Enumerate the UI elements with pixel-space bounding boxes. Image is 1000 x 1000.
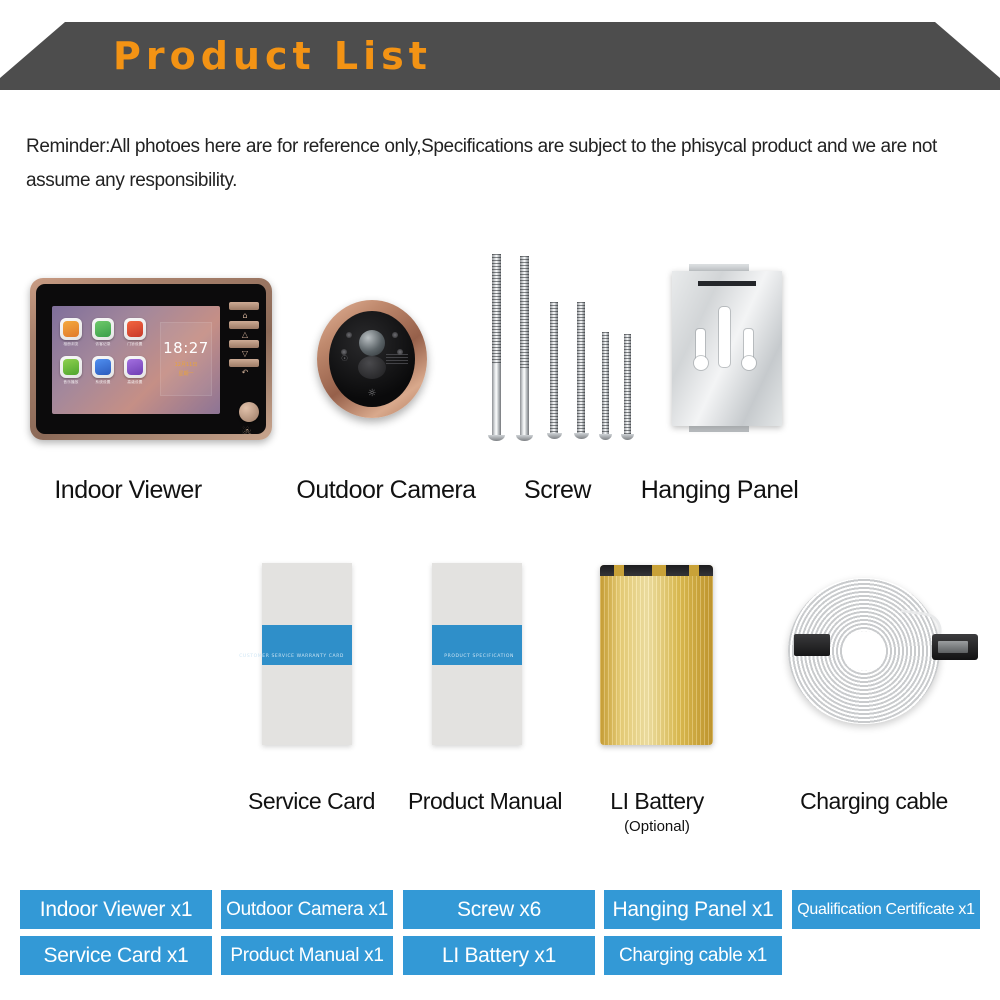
doorbell-button[interactable]: [358, 356, 386, 379]
panel-body: [672, 271, 782, 426]
power-knob[interactable]: [239, 402, 259, 422]
header-banner: Product List: [0, 0, 1000, 100]
ir-led-icon: [346, 332, 352, 338]
app-label: 门铃设置: [124, 342, 146, 347]
back-icon[interactable]: ↶: [228, 368, 262, 378]
badge-qualification-certificate[interactable]: Qualification Certificate x1: [792, 890, 980, 929]
app-tile: 访客记录: [92, 318, 114, 347]
caption-service-card: Service Card: [248, 788, 366, 815]
screw-item: [577, 302, 585, 442]
clock-panel: 18:27 12月11日 星期一: [160, 322, 212, 396]
caption-product-manual: Product Manual: [405, 788, 565, 815]
app-tile: 高级设置: [124, 356, 146, 385]
model-text-marking: [386, 354, 408, 364]
camera-bezel-ring: ☉ ☼: [317, 300, 427, 418]
page-title: Product List: [113, 32, 432, 80]
badge-hanging-panel[interactable]: Hanging Panel x1: [604, 890, 782, 929]
clock-date-line2: 星期一: [161, 370, 211, 378]
camera-lens-icon: [359, 330, 385, 356]
ir-led-icon: [392, 332, 398, 338]
screw-item: [550, 302, 558, 442]
service-card-band: CUSTOMER SERVICE WARRANTY CARD: [262, 625, 352, 665]
product-manual-body: PRODUCT SPECIFICATION: [432, 563, 522, 745]
product-image-outdoor-camera: ☉ ☼: [317, 300, 427, 418]
app-label: 高级设置: [124, 380, 146, 385]
indoor-viewer-bezel: 相册浏览 访客记录 门铃设置: [36, 284, 266, 434]
product-image-indoor-viewer: 相册浏览 访客记录 门铃设置: [30, 278, 272, 440]
app-label: 系统设置: [92, 380, 114, 385]
key-bar-1[interactable]: [229, 302, 259, 310]
caption-li-battery-optional: (Optional): [592, 818, 722, 835]
visitor-log-icon: [92, 318, 114, 340]
bell-icon: ☼: [364, 388, 380, 400]
caption-hanging-panel: Hanging Panel: [622, 476, 817, 505]
app-tile: 音乐播放: [60, 356, 82, 385]
badge-service-card[interactable]: Service Card x1: [20, 936, 212, 975]
caption-indoor-viewer: Indoor Viewer: [30, 476, 226, 505]
product-image-screws: [478, 252, 633, 442]
clock-date-line1: 12月11日: [161, 361, 211, 369]
caption-outdoor-camera: Outdoor Camera: [280, 476, 492, 505]
up-icon[interactable]: △: [228, 330, 262, 340]
app-tile: 门铃设置: [124, 318, 146, 347]
app-tile: 系统设置: [92, 356, 114, 385]
badge-outdoor-camera[interactable]: Outdoor Camera x1: [221, 890, 393, 929]
product-image-service-card: CUSTOMER SERVICE WARRANTY CARD: [262, 563, 352, 745]
clock-time: 18:27: [161, 339, 211, 357]
camera-face: ☉ ☼: [329, 311, 415, 407]
product-image-charging-cable: [772, 572, 982, 730]
system-settings-icon: [92, 356, 114, 378]
app-tile: 相册浏览: [60, 318, 82, 347]
product-image-li-battery: [600, 565, 713, 745]
badge-li-battery[interactable]: LI Battery x1: [403, 936, 595, 975]
caption-charging-cable: Charging cable: [778, 788, 970, 815]
usb-a-connector: [932, 634, 978, 660]
reminder-text: Reminder:All photoes here are for refere…: [26, 130, 971, 198]
product-image-product-manual: PRODUCT SPECIFICATION: [432, 563, 522, 745]
battery-notch: [652, 565, 666, 576]
product-manual-band-text: PRODUCT SPECIFICATION: [444, 654, 514, 659]
screw-item: [492, 254, 501, 442]
keyhole-slot: [744, 329, 753, 363]
down-icon[interactable]: ▽: [228, 349, 262, 359]
badge-indoor-viewer[interactable]: Indoor Viewer x1: [20, 890, 212, 929]
service-card-body: CUSTOMER SERVICE WARRANTY CARD: [262, 563, 352, 745]
key-bar-3[interactable]: [229, 340, 259, 348]
badge-screw[interactable]: Screw x6: [403, 890, 595, 929]
indoor-viewer-screen: 相册浏览 访客记录 门铃设置: [52, 306, 220, 414]
caption-screw: Screw: [500, 476, 615, 505]
indoor-viewer-keypad: ⌂ △ ▽ ↶ ☃: [228, 302, 262, 420]
micro-usb-connector: [794, 634, 830, 656]
panel-top-edge: [698, 281, 756, 286]
caption-li-battery: LI Battery: [592, 788, 722, 815]
battery-notch: [614, 565, 624, 576]
indoor-viewer-housing: 相册浏览 访客记录 门铃设置: [30, 278, 272, 440]
screw-item: [624, 334, 631, 442]
center-slot: [719, 307, 730, 367]
home-icon[interactable]: ⌂: [228, 311, 262, 321]
music-player-icon: [60, 356, 82, 378]
battery-notch: [689, 565, 699, 576]
keyhole-slot: [696, 329, 705, 363]
microphone-icon: ☉: [341, 354, 348, 363]
service-card-band-text: CUSTOMER SERVICE WARRANTY CARD: [239, 654, 344, 659]
product-image-hanging-panel: [663, 258, 791, 438]
key-bar-4[interactable]: [229, 359, 259, 367]
app-label: 访客记录: [92, 342, 114, 347]
photo-album-icon: [60, 318, 82, 340]
screw-item: [520, 256, 529, 442]
product-manual-band: PRODUCT SPECIFICATION: [432, 625, 522, 665]
app-grid: 相册浏览 访客记录 门铃设置: [60, 318, 164, 394]
person-icon: ☃: [241, 426, 252, 434]
advanced-settings-icon: [124, 356, 146, 378]
app-label: 相册浏览: [60, 342, 82, 347]
screw-item: [602, 332, 609, 442]
key-bar-2[interactable]: [229, 321, 259, 329]
battery-body: [600, 565, 713, 745]
cable-coil-center: [843, 631, 885, 671]
badge-product-manual[interactable]: Product Manual x1: [221, 936, 393, 975]
doorbell-settings-icon: [124, 318, 146, 340]
badge-charging-cable[interactable]: Charging cable x1: [604, 936, 782, 975]
app-label: 音乐播放: [60, 380, 82, 385]
